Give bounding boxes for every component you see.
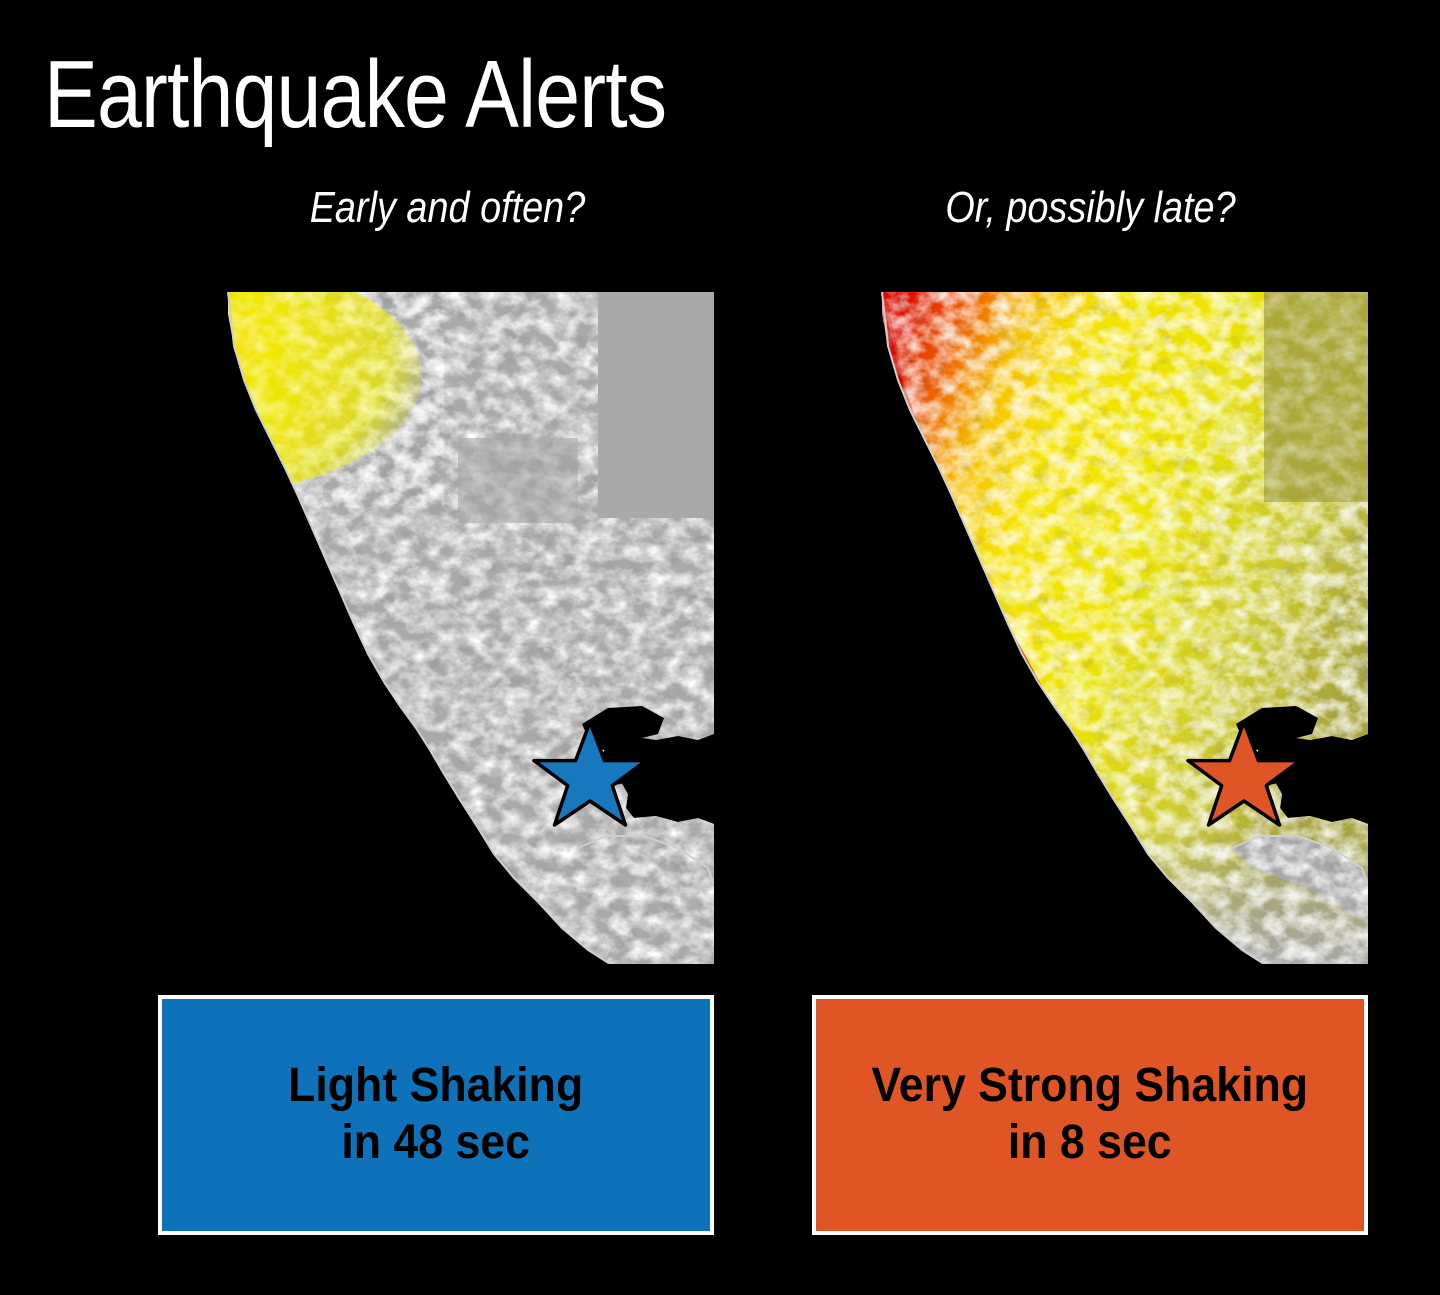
legend-line-1: Very Strong Shaking [872,1058,1309,1115]
legend-text-right: Very Strong Shaking in 8 sec [872,1058,1309,1171]
legend-text-left: Light Shaking in 48 sec [288,1058,583,1171]
legend-line-2: in 48 sec [288,1115,583,1172]
legend-line-2: in 8 sec [872,1115,1309,1172]
legend-box-light-shaking[interactable]: Light Shaking in 48 sec [158,995,714,1235]
legend-line-1: Light Shaking [288,1058,583,1115]
legend-box-very-strong-shaking[interactable]: Very Strong Shaking in 8 sec [812,995,1368,1235]
page-title: Earthquake Alerts [44,47,666,143]
column-subtitle-left: Early and often? [217,186,677,230]
shakemap-right[interactable] [812,288,1368,964]
column-subtitle-right: Or, possibly late? [851,186,1330,230]
poster-canvas: Earthquake Alerts Early and often? Or, p… [0,0,1440,1295]
shakemap-left-graphic [158,288,714,964]
shakemap-right-graphic [812,288,1368,964]
shakemap-left[interactable] [158,288,714,964]
